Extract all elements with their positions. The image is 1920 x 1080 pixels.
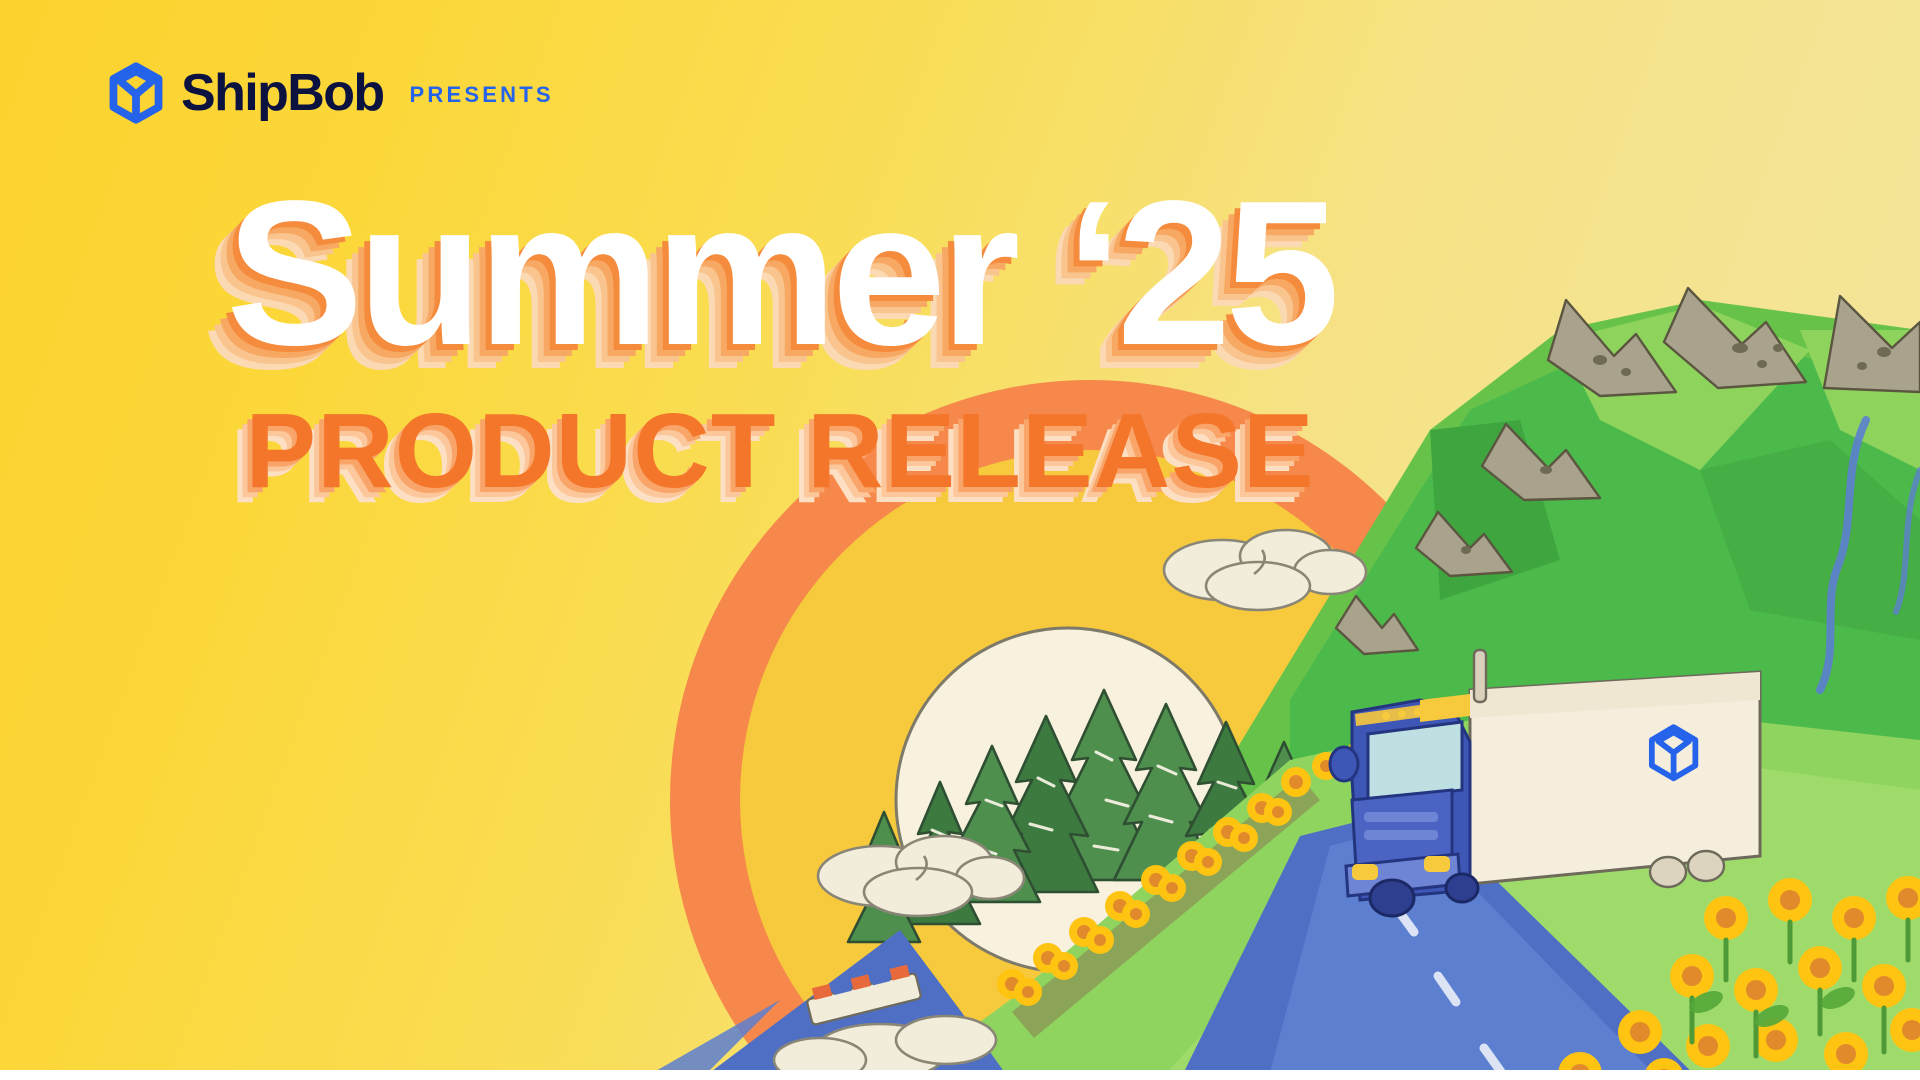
- headline-block: Summer ‘25 Summer ‘25 Summer ‘25 Summer …: [0, 170, 1560, 504]
- shipbob-cube-logo-icon: [105, 62, 167, 124]
- shipbob-logo-lockup[interactable]: ShipBob: [105, 62, 384, 124]
- headline-line2-text: PRODUCT RELEASE: [245, 392, 1314, 510]
- bottom-white-band: [0, 1070, 1920, 1080]
- headline-line2: PRODUCT RELEASE PRODUCT RELEASE PRODUCT …: [245, 398, 1314, 504]
- presents-label: PRESENTS: [410, 82, 554, 108]
- promo-banner: ShipBob PRESENTS Summer ‘25 Summer ‘25 S…: [0, 0, 1920, 1080]
- headline-line1: Summer ‘25 Summer ‘25 Summer ‘25 Summer …: [226, 170, 1334, 376]
- headline-line1-text: Summer ‘25: [226, 158, 1334, 388]
- shipbob-wordmark: ShipBob: [181, 67, 384, 119]
- brand-header: ShipBob PRESENTS: [105, 62, 554, 124]
